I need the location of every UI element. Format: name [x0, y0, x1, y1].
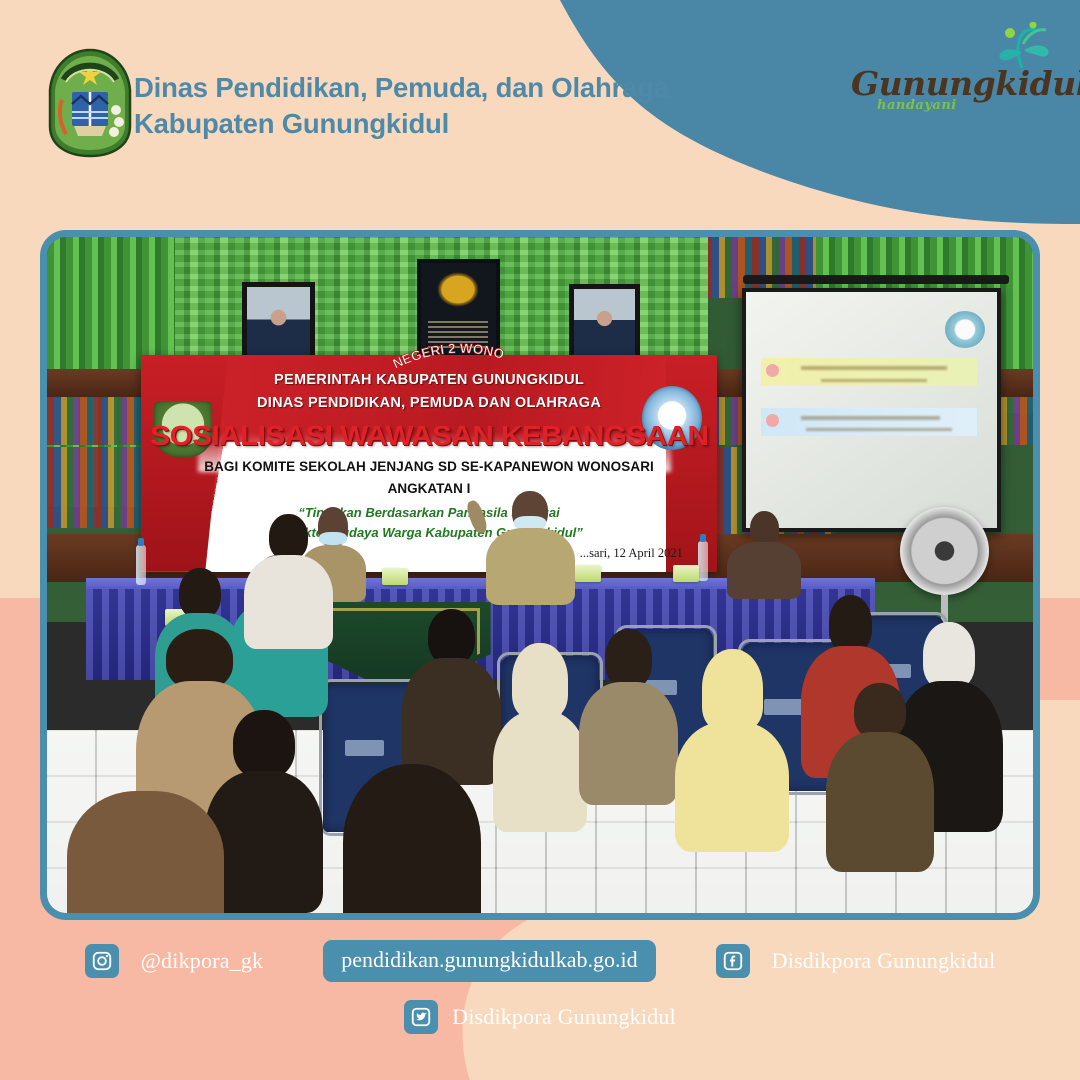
attendee-3-head: [269, 514, 308, 560]
attendee-table-right-body: [727, 542, 801, 598]
attendee-14-body: [67, 791, 225, 913]
slide-bullet-1: [766, 364, 779, 377]
slide-text-1b: [821, 379, 927, 382]
event-banner: PEMERINTAH KABUPATEN GUNUNGKIDUL DINAS P…: [141, 355, 718, 571]
footer-row-2: Disdikpora Gunungkidul: [0, 1000, 1080, 1034]
attendee-7: [491, 643, 590, 832]
snack-box-4: [673, 565, 699, 582]
standing-fan-icon: [900, 507, 989, 595]
water-bottle-1: [136, 545, 146, 585]
snack-box-3: [575, 565, 601, 582]
attendee-5-head: [233, 710, 295, 779]
attendee-11-peci: [923, 622, 975, 689]
banner-date: ...sari, 12 April 2021: [580, 546, 683, 561]
slide-text-1a: [801, 366, 947, 370]
attendee-10-head: [829, 595, 872, 653]
page-title: Dinas Pendidikan, Pemuda, dan Olahraga K…: [134, 70, 694, 143]
svg-text:NEGERI 2 WONO: NEGERI 2 WONO: [390, 341, 505, 372]
attendee-table-right: [727, 511, 801, 599]
slide-text-2a: [801, 416, 939, 420]
banner-quote-line2: Karakter Budaya Warga Kabupaten Gunungki…: [141, 525, 718, 540]
twitter-icon[interactable]: [404, 1000, 438, 1034]
banner-title: SOSIALISASI WAWASAN KEBANGSAAN: [141, 420, 718, 452]
attendee-8: [579, 629, 678, 805]
twitter-handle[interactable]: Disdikpora Gunungkidul: [452, 1004, 676, 1030]
attendee-9: [673, 649, 791, 852]
attendee-13: [343, 764, 481, 913]
attendee-7-body: [493, 711, 588, 832]
gunungkidul-brand-logo: Gunungkidul handayani: [843, 22, 1058, 132]
attendee-6-head: [428, 609, 475, 665]
facebook-icon[interactable]: [716, 944, 750, 978]
event-photo-frame: PEMERINTAH KABUPATEN GUNUNGKIDUL DINAS P…: [40, 230, 1040, 920]
poster-canvas: Dinas Pendidikan, Pemuda, dan Olahraga K…: [0, 0, 1080, 1080]
attendee-12-body: [826, 732, 934, 872]
gunungkidul-regency-crest-icon: [44, 48, 136, 158]
event-photo: PEMERINTAH KABUPATEN GUNUNGKIDUL DINAS P…: [47, 237, 1033, 913]
snack-box-2: [382, 568, 408, 585]
website-url-chip[interactable]: pendidikan.gunungkidulkab.go.id: [323, 940, 655, 982]
attendee-table-right-head: [750, 511, 780, 546]
banner-line2: DINAS PENDIDIKAN, PEMUDA DAN OLAHRAGA: [141, 395, 718, 411]
banner-line4: ANGKATAN I: [141, 481, 718, 496]
attendee-8-head: [605, 629, 652, 689]
banner-line3: BAGI KOMITE SEKOLAH JENJANG SD SE-KAPANE…: [141, 459, 718, 474]
page-title-line1: Dinas Pendidikan, Pemuda, dan Olahraga: [134, 72, 669, 103]
footer-row-1: @dikpora_gk pendidikan.gunungkidulkab.go…: [0, 940, 1080, 982]
attendee-9-body: [675, 722, 789, 852]
attendee-13-body: [343, 764, 481, 913]
page-title-line2: Kabupaten Gunungkidul: [134, 106, 694, 142]
speaker-right-body: [486, 528, 575, 605]
slide-logo-icon: [945, 311, 985, 349]
speaker-right: [486, 491, 575, 606]
banner-arc-text: NEGERI 2 WONO: [390, 341, 505, 372]
attendee-6: [402, 609, 501, 785]
projection-screen: [742, 288, 1001, 533]
instagram-icon[interactable]: [85, 944, 119, 978]
attendee-7-hijab: [512, 643, 567, 719]
attendee-14: [67, 791, 225, 913]
banner-arc-label: NEGERI 2 WONO: [343, 338, 580, 379]
slide-text-2b: [806, 428, 952, 431]
poster-footer: @dikpora_gk pendidikan.gunungkidulkab.go…: [0, 940, 1080, 1080]
water-bottle-4: [698, 541, 708, 581]
facebook-handle[interactable]: Disdikpora Gunungkidul: [772, 948, 996, 974]
slide-bar-blue: [761, 408, 977, 436]
poster-header: Dinas Pendidikan, Pemuda, dan Olahraga K…: [0, 0, 1080, 232]
banner-quote-line1: “Tindakan Berdasarkan Pancasila sebagai: [141, 505, 718, 520]
attendee-1-head: [179, 568, 222, 619]
instagram-handle[interactable]: @dikpora_gk: [141, 948, 264, 974]
slide-bullet-2: [766, 414, 779, 427]
brand-tagline: handayani: [877, 98, 957, 113]
projection-screen-rail: [743, 275, 1009, 284]
attendee-8-body: [579, 682, 678, 805]
attendee-12: [826, 683, 934, 872]
attendee-9-hijab: [702, 649, 764, 730]
